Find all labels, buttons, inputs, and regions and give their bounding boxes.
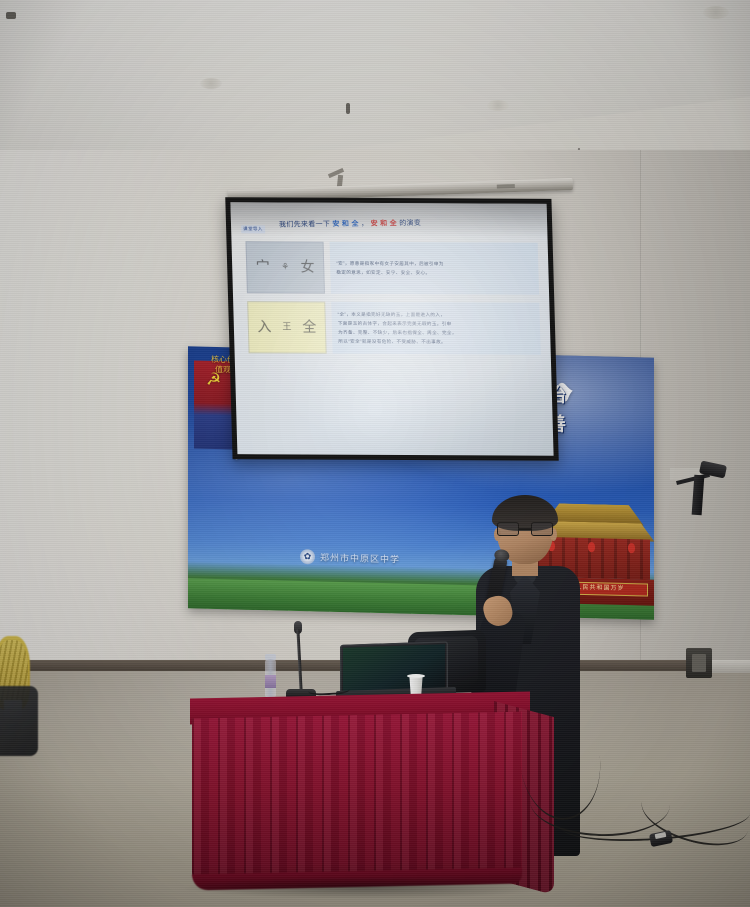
slide-title: 我们先来看一下 安 和 全 ， 安 和 全 的演变: [279, 218, 422, 230]
laptop-display: [343, 644, 445, 692]
oracle-glyph-panel-quan: 入 王 全: [247, 301, 326, 353]
left-chair: [0, 686, 38, 756]
oracle-glyph: ⚘: [281, 263, 289, 272]
school-identity: ✿ 郑州市中原区中学: [300, 549, 400, 566]
oracle-glyph: 女: [300, 261, 314, 275]
oracle-glyph-panel-an: 宀 ⚘ 女: [245, 241, 324, 293]
slide-text-quan: “全”，本义是指完好无缺的玉，上面是进入的入， 下面是玉的古体字，合起来表示完美…: [331, 302, 541, 355]
oracle-glyph: 王: [282, 323, 291, 332]
slide-text-line: “全”，本义是指完好无缺的玉，上面是进入的入，: [337, 312, 533, 318]
ceiling-fixture: [6, 12, 16, 19]
oracle-glyph: 宀: [256, 260, 270, 274]
paper-cup-rim: [407, 674, 425, 678]
photo-scene: ☭ 核心价值观 人人践行 ❥ ❥ ❥ ❥ 富强 民主 文明 和谐 自由 平等 公…: [0, 0, 750, 907]
outlet-faceplate: [692, 654, 706, 672]
slide-title-bar: 课堂导入 我们先来看一下 安 和 全 ， 安 和 全 的演变: [239, 208, 540, 240]
slide-section-tag: 课堂导入: [241, 225, 265, 233]
slide-title-prefix: 我们先来看一下: [279, 221, 330, 229]
ceiling-spotlight: [487, 100, 509, 111]
slide-text-line: 所以“安全”就是没有危险、不受威胁、不出事故。: [338, 339, 534, 345]
bottle-label: [265, 675, 276, 688]
slide-text-line: “安”，原意是指家中有女子安居其中，后被引申为: [336, 261, 532, 267]
slide-content: 课堂导入 我们先来看一下 安 和 全 ， 安 和 全 的演变 宀 ⚘ 女: [230, 202, 553, 456]
ceiling-fixture: [346, 103, 350, 114]
slide-title-suffix: 的演变: [399, 220, 421, 227]
slide-text-line: 下面是玉的古体字，合起来表示完美无瑕的玉。引申: [338, 321, 534, 327]
eyeglasses-icon: [496, 522, 554, 536]
eyeglass-lens-left: [497, 522, 519, 536]
housing-label: [497, 184, 515, 189]
presenter-table: [190, 695, 530, 895]
slide-text-an: “安”，原意是指家中有女子安居其中，后被引申为 稳定的意思，如安定、安宁、安全、…: [330, 242, 540, 295]
lantern-icon: [628, 543, 635, 553]
oracle-glyph: 全: [302, 321, 316, 335]
slide-title-middle: ，: [361, 221, 369, 228]
ceiling-spotlight: [200, 78, 222, 89]
slide-title-highlight-red: 安 和 全: [370, 220, 397, 227]
ceiling-spotlight: [703, 6, 729, 19]
slide-text-line: 稳定的意思，如安定、安宁、安全、安心。: [336, 270, 532, 276]
eyeglass-lens-right: [531, 522, 553, 536]
tablecloth-skirt: [192, 712, 522, 887]
slide-block-an: 宀 ⚘ 女 “安”，原意是指家中有女子安居其中，后被引申为 稳定的意思，如安定、…: [245, 241, 539, 295]
screen-surface: 课堂导入 我们先来看一下 安 和 全 ， 安 和 全 的演变 宀 ⚘ 女: [230, 202, 553, 456]
oracle-glyph: 入: [257, 320, 271, 334]
slide-text-line: 为齐备、完整、不缺少，后来也指保全、周全、完全，: [338, 330, 534, 336]
table-floor-shadow: [180, 877, 550, 899]
eyeglass-bridge: [519, 528, 531, 530]
projection-screen: 课堂导入 我们先来看一下 安 和 全 ， 安 和 全 的演变 宀 ⚘ 女: [225, 197, 558, 461]
school-logo-icon: ✿: [300, 549, 315, 564]
slide-block-quan: 入 王 全 “全”，本义是指完好无缺的玉，上面是进入的入， 下面是玉的古体字，合…: [247, 301, 541, 355]
school-name: 郑州市中原区中学: [320, 551, 400, 566]
slide-title-highlight-blue: 安 和 全: [332, 221, 359, 228]
